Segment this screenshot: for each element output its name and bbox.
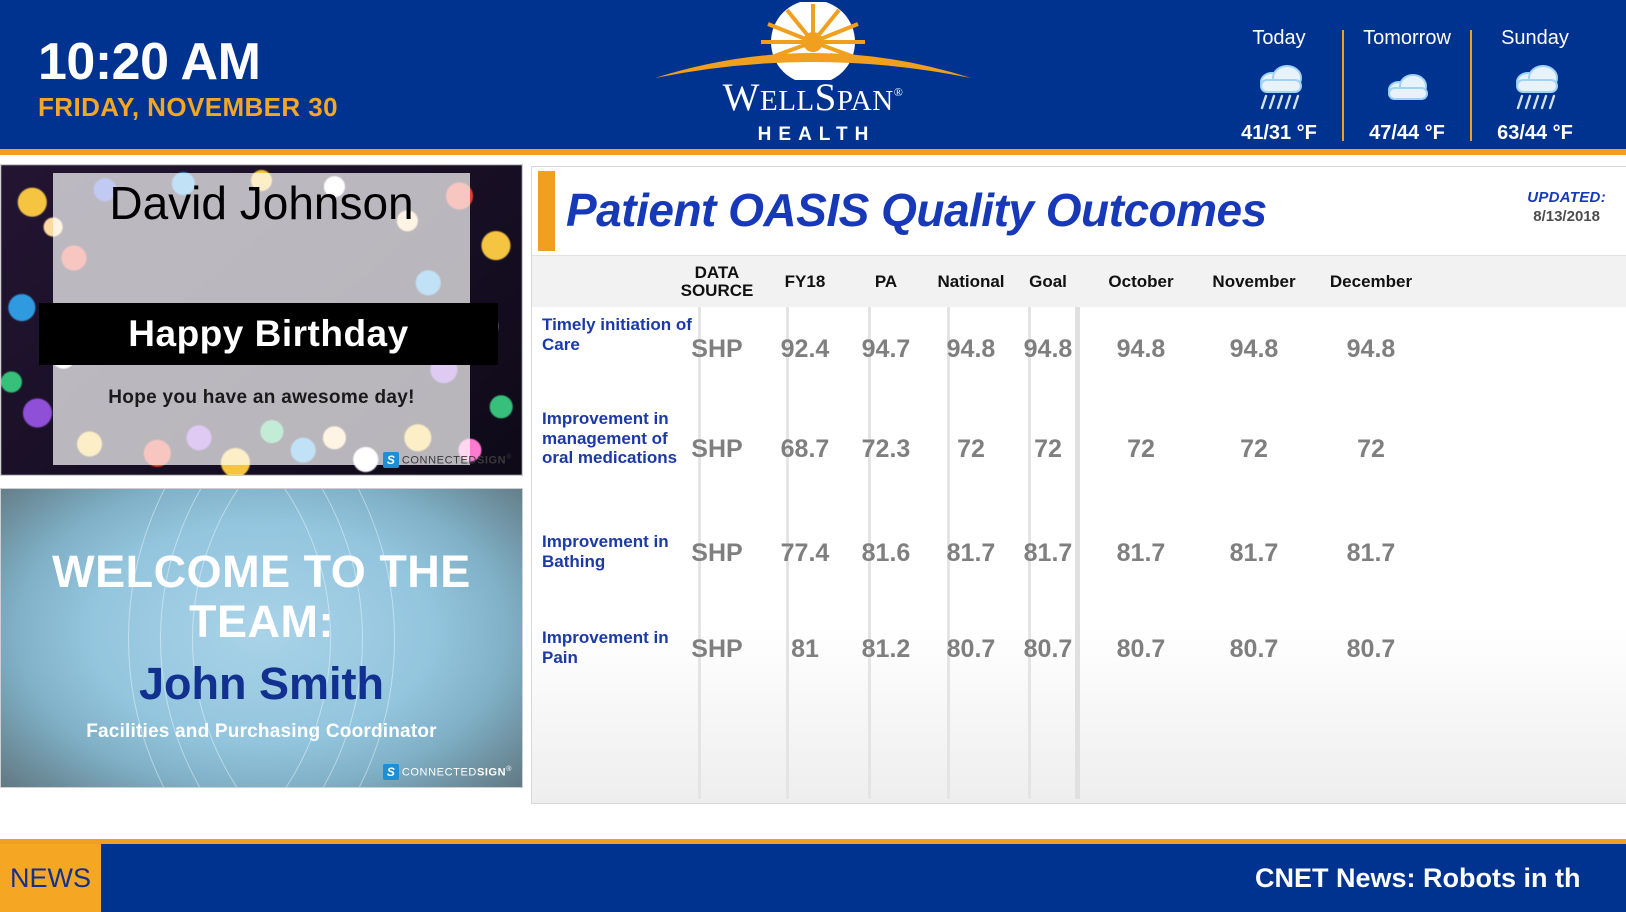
header-accent-stripe [0, 149, 1626, 155]
row-label: Improvement in management of oral medica… [542, 409, 692, 468]
cell-november: 94.8 [1195, 315, 1313, 383]
rain-cloud-icon [1250, 58, 1308, 114]
table-row: Improvement in Pain SHP 81 81.2 80.7 80.… [532, 615, 1626, 711]
column-header-december: December [1312, 256, 1430, 308]
connectedsign-watermark: S CONNECTEDSIGN® [383, 452, 512, 468]
row-label: Improvement in Bathing [542, 532, 692, 571]
welcome-card: WELCOME TO THE TEAM: John Smith Faciliti… [0, 488, 523, 788]
oasis-quality-panel: Patient OASIS Quality Outcomes UPDATED: … [531, 166, 1626, 804]
connectedsign-wordmark: CONNECTEDSIGN® [402, 454, 512, 467]
connectedsign-watermark: S CONNECTEDSIGN® [383, 764, 512, 780]
row-label: Timely initiation of Care [542, 315, 692, 354]
cell-december: 72 [1312, 415, 1430, 483]
oasis-title-bar: Patient OASIS Quality Outcomes UPDATED: … [532, 167, 1626, 255]
cell-goal: 94.8 [1010, 315, 1086, 383]
weather-day-sunday: Sunday [1472, 28, 1598, 143]
title-accent-bar [538, 171, 555, 251]
updated-label: UPDATED: [1527, 189, 1606, 206]
connectedsign-wordmark: CONNECTEDSIGN® [402, 766, 512, 779]
oasis-table: DATASOURCE FY18 PA National Goal October… [532, 255, 1626, 799]
birthday-person-name: David Johnson [53, 179, 470, 228]
wellspan-logo: WELLSPAN® HEALTH [653, 2, 973, 147]
digital-signage-screen: 10:20 AM FRIDAY, NOVEMBER 30 [0, 0, 1626, 912]
welcome-heading: WELCOME TO THE TEAM: [1, 547, 522, 648]
cell-national: 81.7 [926, 519, 1016, 587]
birthday-banner-text: Happy Birthday [128, 313, 408, 355]
news-tag: NEWS [0, 844, 101, 912]
weather-day-label: Sunday [1501, 28, 1569, 48]
clock-block: 10:20 AM FRIDAY, NOVEMBER 30 [38, 36, 338, 120]
weather-day-today: Today [1216, 28, 1342, 143]
left-content-column: David Johnson Happy Birthday Hope you ha… [0, 164, 523, 788]
weather-day-label: Tomorrow [1363, 28, 1451, 48]
page-title: Patient OASIS Quality Outcomes [566, 183, 1267, 237]
cell-december: 94.8 [1312, 315, 1430, 383]
cell-fy18: 81 [768, 615, 842, 683]
cell-pa: 81.2 [852, 615, 920, 683]
news-headline: CNET News: Robots in th [1255, 844, 1581, 912]
cell-december: 80.7 [1312, 615, 1430, 683]
cell-fy18: 77.4 [768, 519, 842, 587]
wellspan-wordmark: WELLSPAN® [653, 78, 973, 117]
weather-widget: Today [1216, 28, 1598, 143]
birthday-message: Hope you have an awesome day! [53, 387, 470, 409]
birthday-banner: Happy Birthday [39, 303, 498, 365]
weather-day-label: Today [1252, 28, 1305, 48]
table-header-row: DATASOURCE FY18 PA National Goal October… [532, 255, 1626, 307]
rain-cloud-icon [1506, 58, 1564, 114]
column-header-pa: PA [852, 256, 920, 308]
weather-day-tomorrow: Tomorrow 47/44 °F [1344, 28, 1470, 143]
cell-pa: 72.3 [852, 415, 920, 483]
connectedsign-badge-icon: S [383, 764, 399, 780]
top-header-bar: 10:20 AM FRIDAY, NOVEMBER 30 [0, 0, 1626, 149]
weather-temp: 47/44 °F [1369, 123, 1445, 143]
cell-october: 80.7 [1086, 615, 1196, 683]
column-header-fy18: FY18 [768, 256, 842, 308]
cell-national: 72 [926, 415, 1016, 483]
cell-data-source: SHP [680, 615, 754, 683]
connectedsign-badge-icon: S [383, 452, 399, 468]
cloud-icon [1378, 58, 1436, 114]
cell-december: 81.7 [1312, 519, 1430, 587]
cell-national: 94.8 [926, 315, 1016, 383]
sunburst-svg [653, 2, 973, 80]
cell-data-source: SHP [680, 315, 754, 383]
news-ticker-bar: NEWS CNET News: Robots in th [0, 844, 1626, 912]
welcome-person-name: John Smith [1, 661, 522, 706]
welcome-person-role: Facilities and Purchasing Coordinator [1, 721, 522, 743]
current-date: FRIDAY, NOVEMBER 30 [38, 94, 338, 120]
cell-data-source: SHP [680, 519, 754, 587]
column-header-october: October [1086, 256, 1196, 308]
cell-pa: 81.6 [852, 519, 920, 587]
weather-temp: 41/31 °F [1241, 123, 1317, 143]
weather-temp: 63/44 °F [1497, 123, 1573, 143]
cell-fy18: 92.4 [768, 315, 842, 383]
column-header-goal: Goal [1010, 256, 1086, 308]
table-row: Improvement in management of oral medica… [532, 403, 1626, 519]
cell-november: 81.7 [1195, 519, 1313, 587]
cell-data-source: SHP [680, 415, 754, 483]
cell-october: 72 [1086, 415, 1196, 483]
wellspan-subtitle: HEALTH [653, 124, 973, 146]
column-header-national: National [926, 256, 1016, 308]
cell-goal: 81.7 [1010, 519, 1086, 587]
cell-october: 81.7 [1086, 519, 1196, 587]
table-row: Improvement in Bathing SHP 77.4 81.6 81.… [532, 519, 1626, 615]
cell-november: 80.7 [1195, 615, 1313, 683]
row-label: Improvement in Pain [542, 628, 692, 667]
updated-date: 8/13/2018 [1527, 208, 1606, 225]
column-header-data-source: DATASOURCE [680, 256, 754, 308]
cell-november: 72 [1195, 415, 1313, 483]
cell-goal: 72 [1010, 415, 1086, 483]
current-time: 10:20 AM [38, 36, 338, 88]
cell-pa: 94.7 [852, 315, 920, 383]
birthday-card: David Johnson Happy Birthday Hope you ha… [0, 164, 523, 476]
updated-block: UPDATED: 8/13/2018 [1527, 189, 1606, 225]
sunburst-icon [653, 2, 973, 80]
cell-october: 94.8 [1086, 315, 1196, 383]
cell-fy18: 68.7 [768, 415, 842, 483]
column-header-november: November [1195, 256, 1313, 308]
cell-national: 80.7 [926, 615, 1016, 683]
cell-goal: 80.7 [1010, 615, 1086, 683]
table-body: Timely initiation of Care SHP 92.4 94.7 … [532, 307, 1626, 799]
